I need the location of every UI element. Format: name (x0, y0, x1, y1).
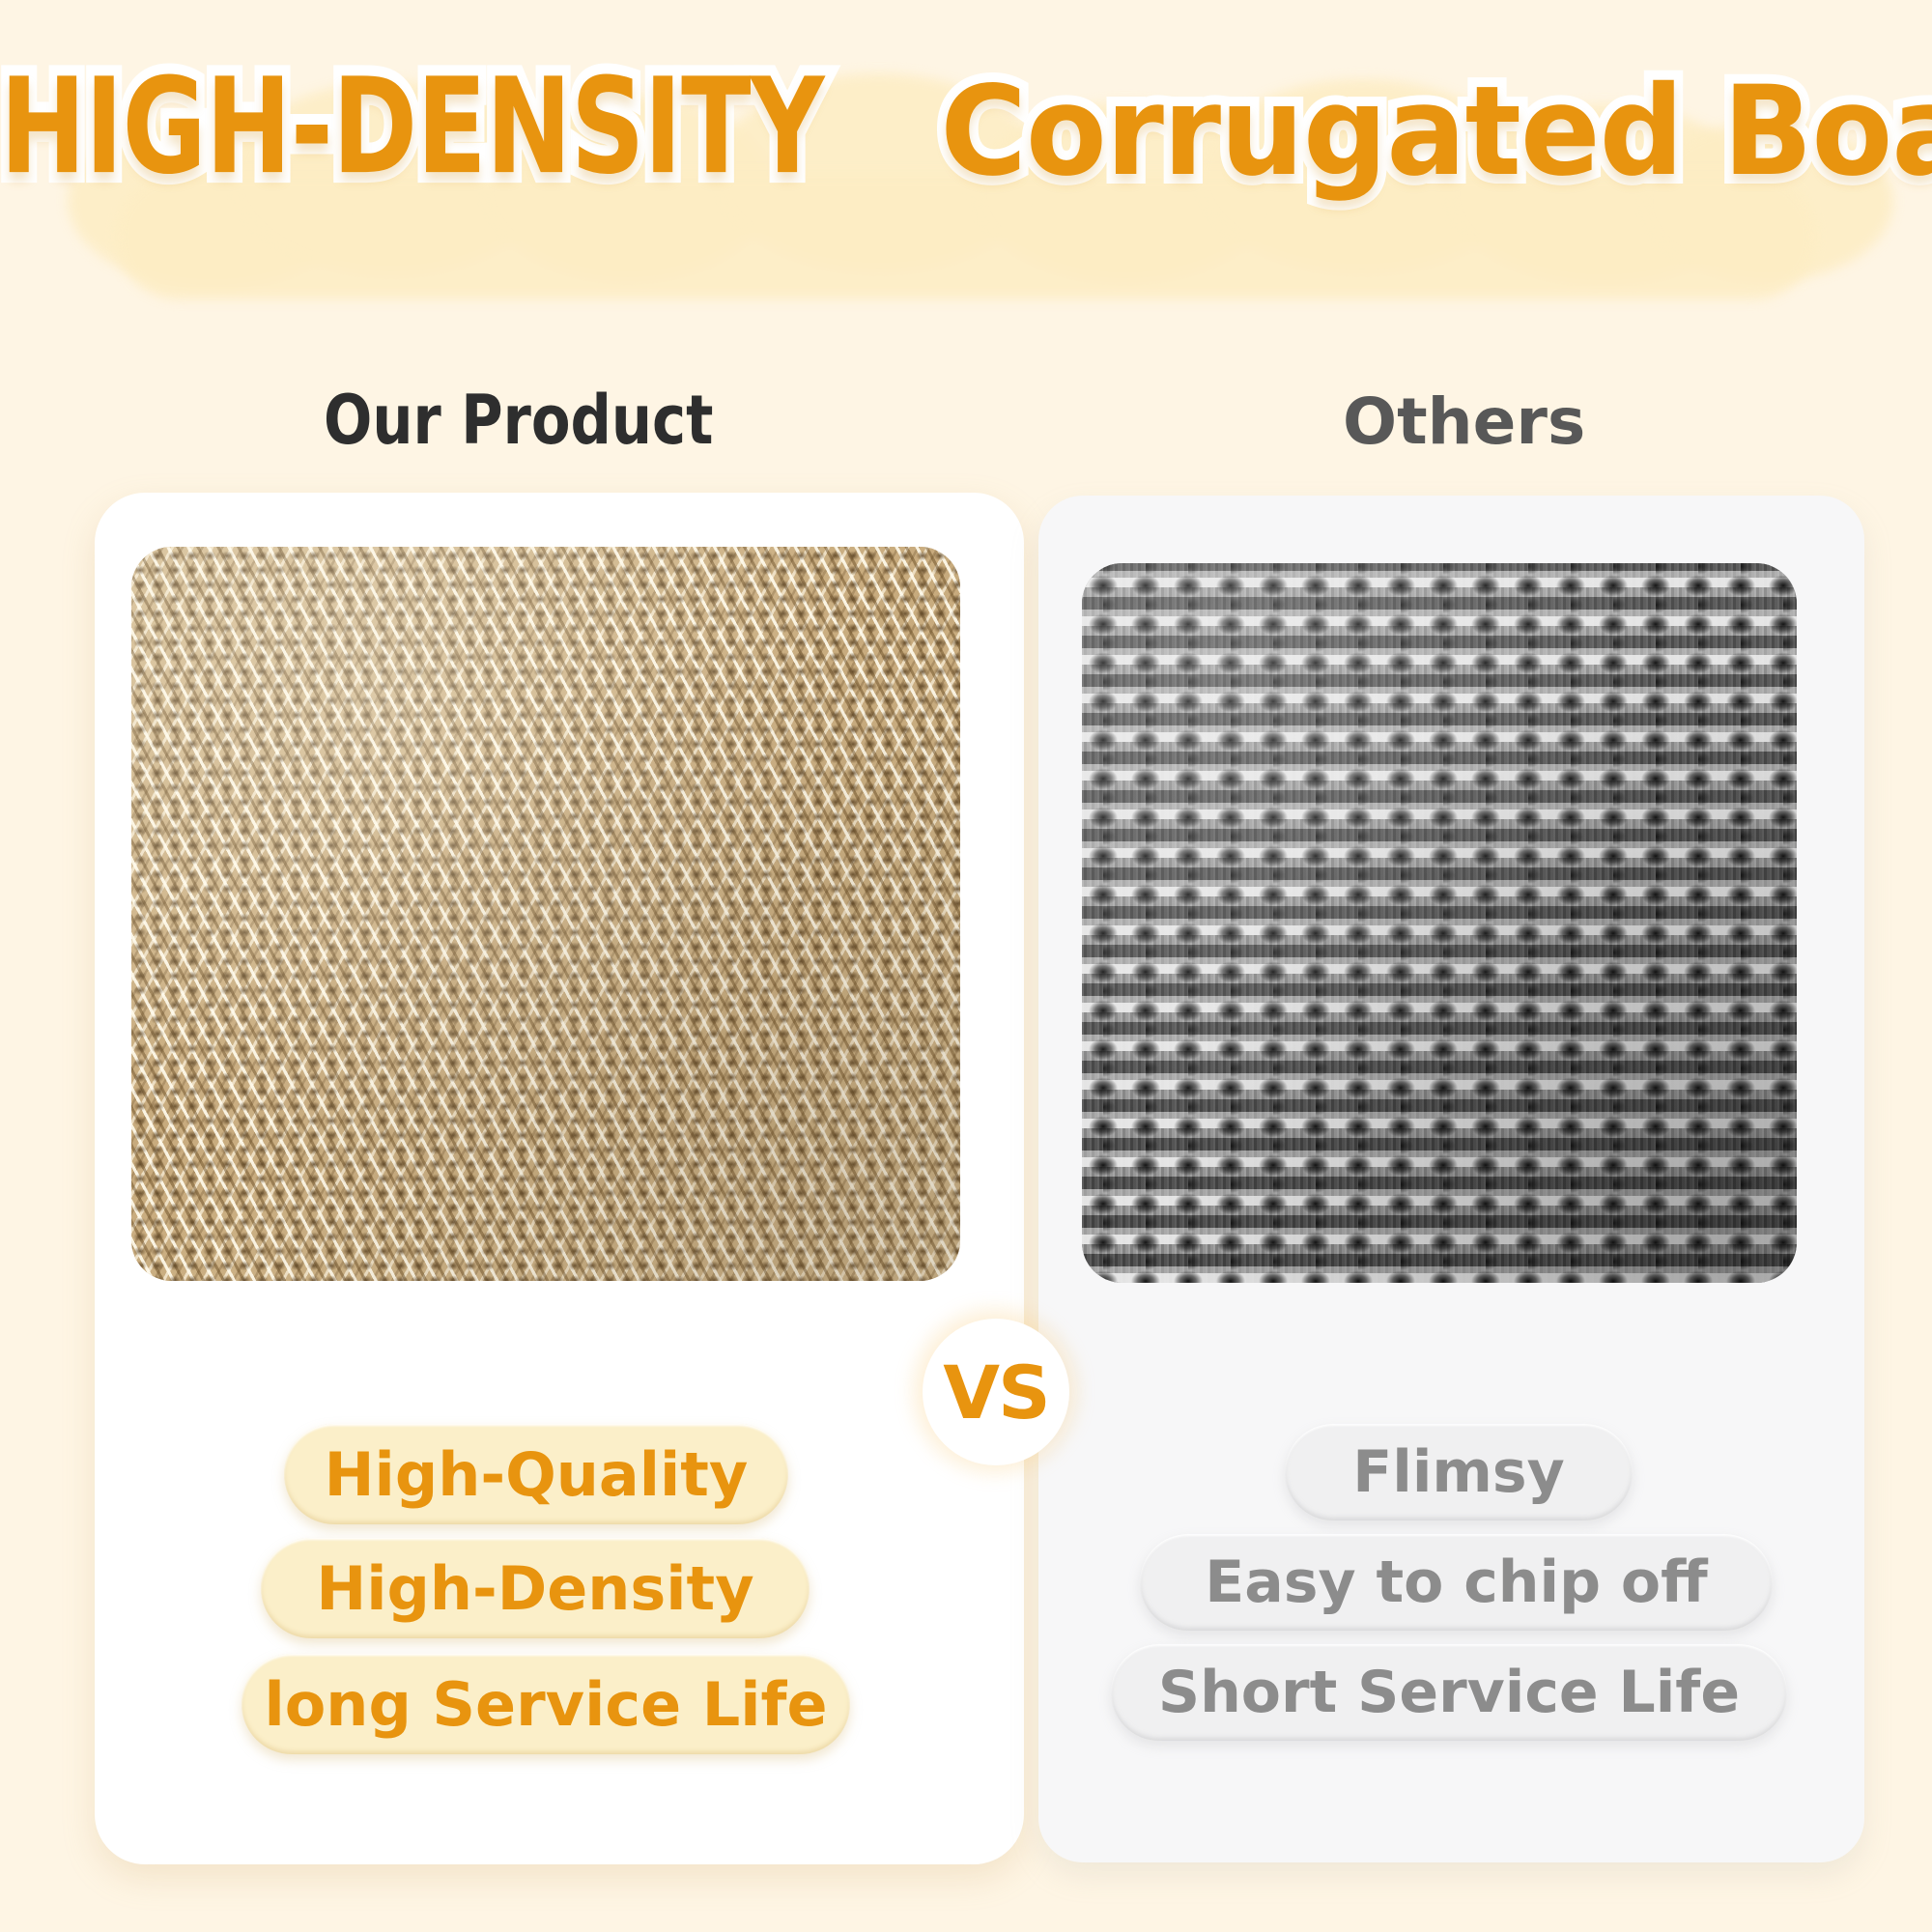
photo-our-product-corrugated-texture (131, 547, 960, 1281)
feature-pill-high-density: High-Density (261, 1538, 810, 1638)
vs-badge: VS (923, 1319, 1069, 1465)
column-heading-others: Others (1343, 384, 1585, 459)
infographic-canvas: HIGH-DENSITYCorrugated Board Our Product… (0, 0, 1932, 1932)
page-title: HIGH-DENSITYCorrugated Board (0, 75, 1932, 193)
feature-pill-long-service-life: long Service Life (241, 1654, 850, 1754)
drawback-pill-short-service-life: Short Service Life (1111, 1644, 1787, 1741)
column-heading-our-product: Our Product (324, 381, 713, 460)
page-title-part-highdensity: HIGH-DENSITY (0, 60, 824, 192)
corrugated-board-texture-tan-icon (131, 547, 960, 1281)
corrugated-board-texture-grey-icon (1082, 563, 1797, 1283)
drawback-pill-flimsy: Flimsy (1285, 1424, 1633, 1520)
drawback-pill-easy-to-chip-off: Easy to chip off (1140, 1534, 1773, 1631)
photo-others-corrugated-texture (1082, 563, 1797, 1283)
feature-pill-high-quality: High-Quality (284, 1424, 788, 1524)
page-title-part-corrugatedboard: Corrugated Board (940, 70, 1932, 193)
